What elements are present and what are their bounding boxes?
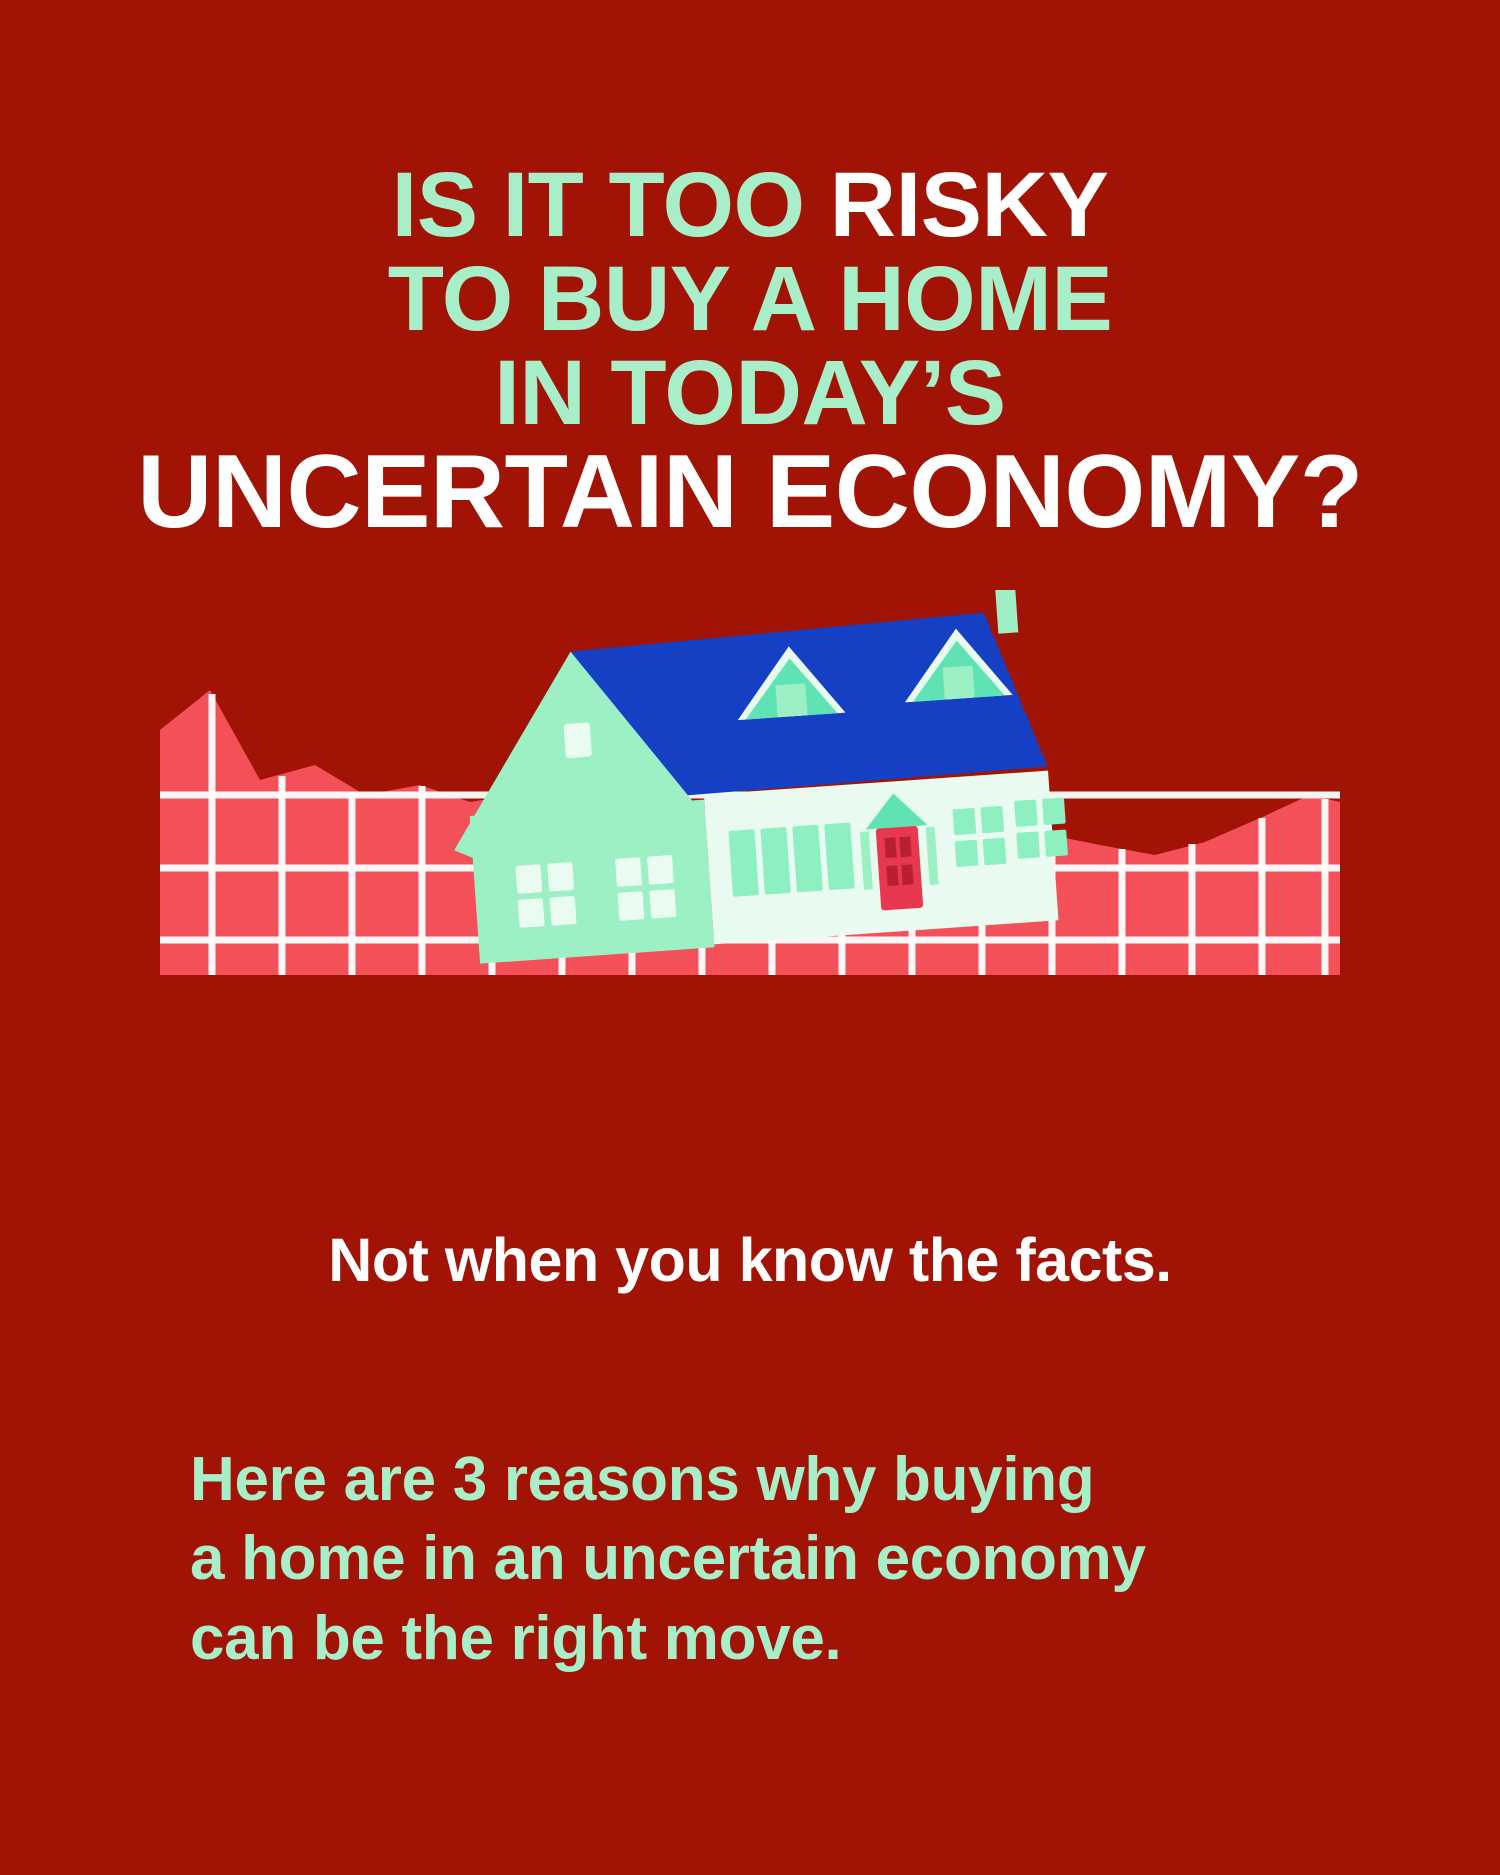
body-line-2: a home in an uncertain economy [190,1519,1350,1598]
headline-line-1: IS IT TOO RISKY [0,160,1500,250]
body-line-1: Here are 3 reasons why buying [190,1440,1350,1519]
subhead-text: Not when you know the facts. [0,1225,1500,1295]
headline-line-3: IN TODAY’S [0,348,1500,438]
headline-line-1-white: RISKY [830,154,1109,256]
body-copy-block: Here are 3 reasons why buying a home in … [190,1440,1350,1678]
house-gable-wall [470,800,715,964]
gable-attic-window [564,722,592,758]
headline-line-2: TO BUY A HOME [0,254,1500,344]
house-illustration [438,590,1073,965]
headline-line-4: UNCERTAIN ECONOMY? [0,442,1500,544]
house-and-chart-illustration [150,590,1350,990]
house-chimney [995,590,1019,634]
headline-line-1-mint: IS IT TOO [392,154,830,256]
headline-block: IS IT TOO RISKY TO BUY A HOME IN TODAY’S… [0,160,1500,544]
infographic-poster: IS IT TOO RISKY TO BUY A HOME IN TODAY’S… [0,0,1500,1875]
body-line-3: can be the right move. [190,1599,1350,1678]
